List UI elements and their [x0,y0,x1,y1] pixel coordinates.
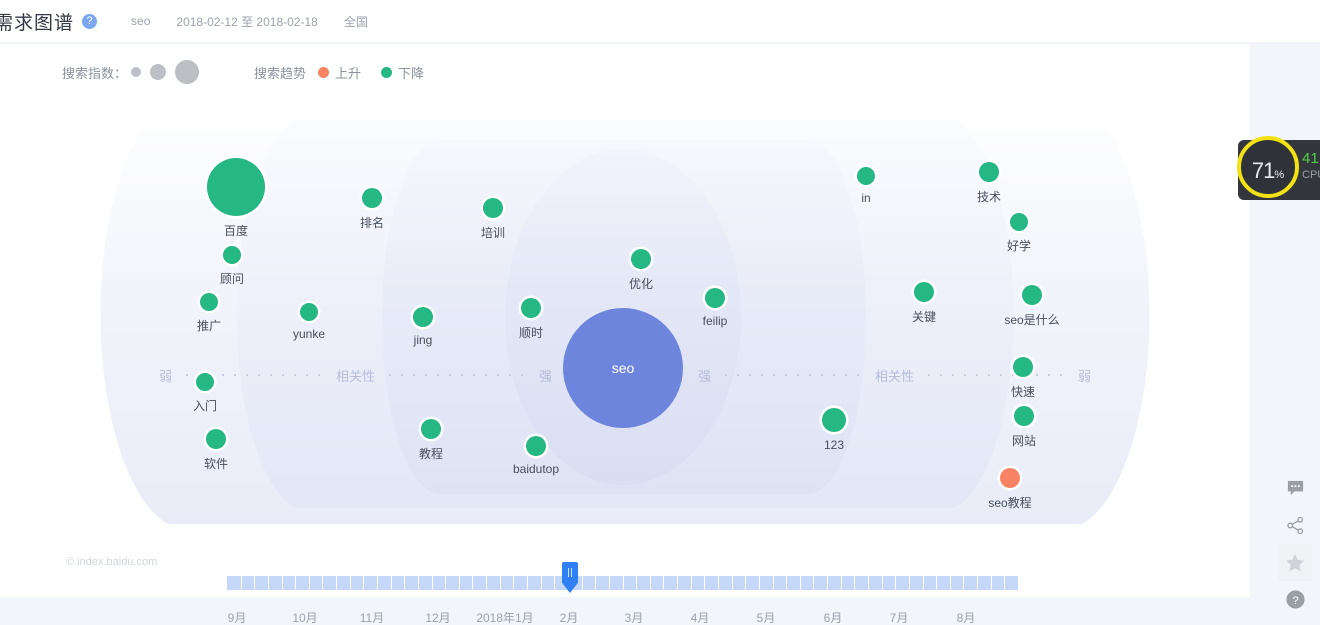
question-mark-icon[interactable]: ? [82,14,97,29]
node-bubble[interactable] [979,162,999,182]
timeline-tick [650,576,651,590]
legend-size-scale [131,60,208,84]
cpu-secondary-value: 41 [1302,150,1320,167]
page-title: 需求图谱 [0,8,74,35]
axis-label-strong-left: 强 [530,366,561,385]
region-label: 全国 [344,13,368,30]
trend-rise-label: 上升 [335,63,361,82]
node-bubble[interactable] [196,373,214,391]
timeline-tick [950,576,951,590]
cpu-monitor-widget[interactable]: 71 % 41 CPU [1238,140,1320,200]
node-bubble[interactable] [206,429,226,449]
side-rail: ? [1278,470,1312,618]
timeline-label: 2月 [560,609,579,625]
timeline-tick [322,576,323,590]
axis-label-relevance-right: 相关性 [866,366,923,385]
node-bubble[interactable] [200,293,218,311]
timeline-label: 6月 [824,609,843,625]
timeline-tick [882,576,883,590]
axis-dots-3 [720,374,866,376]
size-dot-medium [150,64,166,80]
node-bubble[interactable] [1014,406,1034,426]
timeline-tick [718,576,719,590]
timeline-tick [268,576,269,590]
timeline-tick [377,576,378,590]
timeline-tick [527,576,528,590]
cpu-secondary-stat: 41 CPU [1302,150,1320,181]
node-label: yunke [293,327,325,341]
node-label: 技术 [977,188,1001,205]
timeline-tick [282,576,283,590]
legend-size-label: 搜索指数： [62,63,127,82]
timeline-tick [868,576,869,590]
timeline-tick [582,576,583,590]
node-bubble[interactable] [483,198,503,218]
node-label: 百度 [224,222,248,239]
axis-dots-4 [923,374,1069,376]
timeline-tick [609,576,610,590]
timeline-tick [800,576,801,590]
timeline-tick [663,576,664,590]
timeline-tick [554,576,555,590]
node-bubble[interactable] [631,249,651,269]
timeline-tick [404,576,405,590]
timeline-tick [827,576,828,590]
timeline-label: 5月 [757,609,776,625]
node-label: seo是什么 [1004,311,1059,328]
node-label: feilip [703,314,728,328]
trend-rise-swatch [318,67,329,78]
legend: 搜索指数： 搜索趋势 上升 下降 [62,60,444,84]
page-root: 需求图谱 ? seo 2018-02-12 至 2018-02-18 全国 搜索… [0,0,1320,625]
timeline-tick [923,576,924,590]
node-bubble[interactable] [362,188,382,208]
node-label: 入门 [193,397,217,414]
node-bubble[interactable] [223,246,241,264]
node-bubble[interactable] [207,158,265,216]
timeline-tick [854,576,855,590]
timeline-tick [432,576,433,590]
trend-fall-swatch [381,67,392,78]
size-dot-small [131,67,141,77]
copyright-text: © index.baidu.com [66,556,157,568]
help-icon[interactable]: ? [1278,581,1312,618]
timeline-label: 2018年1月 [476,609,533,625]
timeline-tick [336,576,337,590]
timeline-tick [241,576,242,590]
center-node-label: seo [612,360,635,376]
center-node-seo[interactable]: seo [563,308,683,428]
timeline-tick [513,576,514,590]
timeline-tick [636,576,637,590]
timeline-label: 10月 [292,609,317,625]
keyword-label: seo [131,14,150,28]
timeline-tick [895,576,896,590]
timeline-tick [363,576,364,590]
node-label: 网站 [1012,432,1036,449]
timeline-tick [759,576,760,590]
node-label: seo教程 [988,494,1031,511]
timeline-tick [309,576,310,590]
node-label: in [861,191,870,205]
demand-graph-card: 搜索指数： 搜索趋势 上升 下降 [0,44,1250,597]
node-bubble[interactable] [822,408,846,432]
timeline-tick [704,576,705,590]
node-label: 关键 [912,308,936,325]
trend-fall-label: 下降 [398,63,424,82]
timeline-tick [813,576,814,590]
axis-dots-2 [384,374,530,376]
node-label: 顾问 [220,270,244,287]
timeline-label: 11月 [360,609,384,625]
axis-label-weak-left: 弱 [150,366,181,385]
node-bubble[interactable] [914,282,934,302]
timeline-tick [391,576,392,590]
node-label: 教程 [419,445,443,462]
node-label: 培训 [481,224,505,241]
timeline-tick [595,576,596,590]
timeline-tick [1004,576,1005,590]
timeline-tick [472,576,473,590]
node-bubble[interactable] [300,303,318,321]
node-bubble[interactable] [1022,285,1042,305]
timeline-tick [445,576,446,590]
timeline-label: 12月 [425,609,450,625]
node-label: 快速 [1011,383,1035,400]
timeline-label: 7月 [890,609,909,625]
timeline-tick [909,576,910,590]
cpu-percent-unit: % [1274,147,1284,181]
demand-graph-canvas: 弱 相关性 强 强 相关性 弱 百度排名培训in技术顾问好学优化推广feilip… [0,94,1250,534]
node-bubble[interactable] [413,307,433,327]
timeline-tick [677,576,678,590]
timeline-label: 3月 [625,609,644,625]
timeline-tick [841,576,842,590]
timeline-tick [773,576,774,590]
timeline-tick [418,576,419,590]
timeline-tick [977,576,978,590]
page-header: 需求图谱 ? seo 2018-02-12 至 2018-02-18 全国 [0,0,1320,42]
node-label: 优化 [629,275,653,292]
timeline-tick [732,576,733,590]
timeline-handle[interactable] [562,562,578,593]
node-label: baidutop [513,462,559,476]
node-bubble[interactable] [521,298,541,318]
timeline-track[interactable] [227,576,1018,590]
node-label: 顺时 [519,324,543,341]
timeline-label: 9月 [228,609,247,625]
legend-trend-label: 搜索趋势 [254,63,306,82]
axis-label-strong-right: 强 [689,366,720,385]
timeline-label: 8月 [957,609,976,625]
node-bubble[interactable] [1000,468,1020,488]
node-label: 排名 [360,214,384,231]
legend-trend: 搜索趋势 上升 下降 [254,63,444,82]
share-icon[interactable] [1278,507,1312,544]
size-dot-large [175,60,199,84]
svg-text:?: ? [1292,595,1298,607]
timeline-tick [295,576,296,590]
timeline-tick [936,576,937,590]
node-label: 推广 [197,317,221,334]
axis-label-relevance-left: 相关性 [327,366,384,385]
timeline-tick [623,576,624,590]
favorite-icon[interactable] [1278,544,1312,581]
node-label: 123 [824,438,844,452]
axis-label-weak-right: 弱 [1069,366,1100,385]
node-bubble[interactable] [1010,213,1028,231]
timeline-label: 4月 [691,609,710,625]
node-bubble[interactable] [421,419,441,439]
cpu-secondary-label: CPU [1302,169,1320,181]
node-label: 软件 [204,455,228,472]
timeline-tick [254,576,255,590]
node-bubble[interactable] [705,288,725,308]
timeline-tick [486,576,487,590]
timeline: 9月10月11月12月2018年1月2月3月4月5月6月7月8月 [0,524,1250,594]
node-label: jing [414,333,433,347]
date-range-label: 2018-02-12 至 2018-02-18 [176,13,317,30]
timeline-tick [745,576,746,590]
timeline-tick [691,576,692,590]
node-label: 好学 [1007,237,1031,254]
timeline-tick [991,576,992,590]
timeline-labels: 9月10月11月12月2018年1月2月3月4月5月6月7月8月 [0,609,1250,625]
timeline-tick [459,576,460,590]
timeline-tick [350,576,351,590]
timeline-tick [786,576,787,590]
cpu-percent-value: 71 [1252,140,1274,184]
node-bubble[interactable] [1013,357,1033,377]
node-bubble[interactable] [526,436,546,456]
timeline-tick [541,576,542,590]
node-bubble[interactable] [857,167,875,185]
timeline-tick [500,576,501,590]
feedback-icon[interactable] [1278,470,1312,507]
timeline-tick [963,576,964,590]
cpu-percent-ring: 71 % [1237,136,1299,198]
